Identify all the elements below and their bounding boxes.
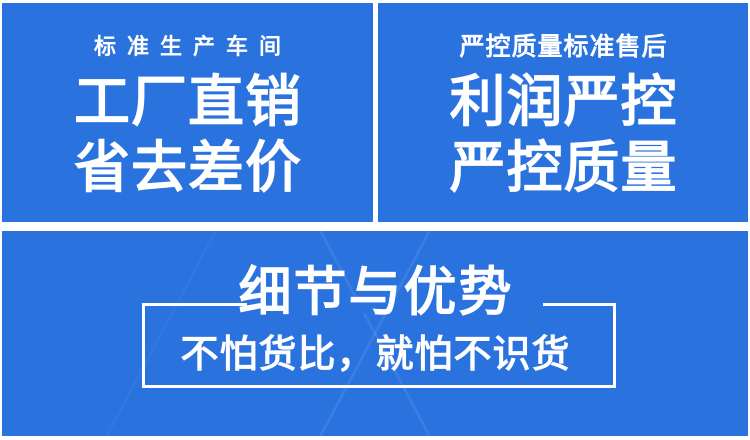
feature-subtitle: 不怕货比，就怕不识货 [2, 332, 748, 378]
panel-quality-control-headline-line-1: 利润严控 [378, 73, 748, 131]
panel-factory-direct-headline-line-2: 省去差价 [2, 139, 373, 197]
panel-quality-control-eyebrow: 严控质量标准售后 [378, 32, 748, 62]
panel-factory-direct-headline-line-1: 工厂直销 [2, 73, 373, 131]
feature-title: 细节与优势 [2, 263, 748, 323]
panel-factory-direct-eyebrow: 标准生产车间 [2, 33, 373, 61]
promo-banner: 标准生产车间 工厂直销 省去差价 严控质量标准售后 利润严控 严控质量 细节与优… [0, 0, 750, 440]
panel-factory-direct: 标准生产车间 工厂直销 省去差价 [2, 3, 373, 222]
feature-frame-bottom [142, 381, 616, 388]
panel-details-and-advantages: 细节与优势 不怕货比，就怕不识货 [2, 231, 748, 436]
panel-quality-control-headline-line-2: 严控质量 [378, 139, 748, 197]
panel-quality-control: 严控质量标准售后 利润严控 严控质量 [378, 3, 748, 222]
